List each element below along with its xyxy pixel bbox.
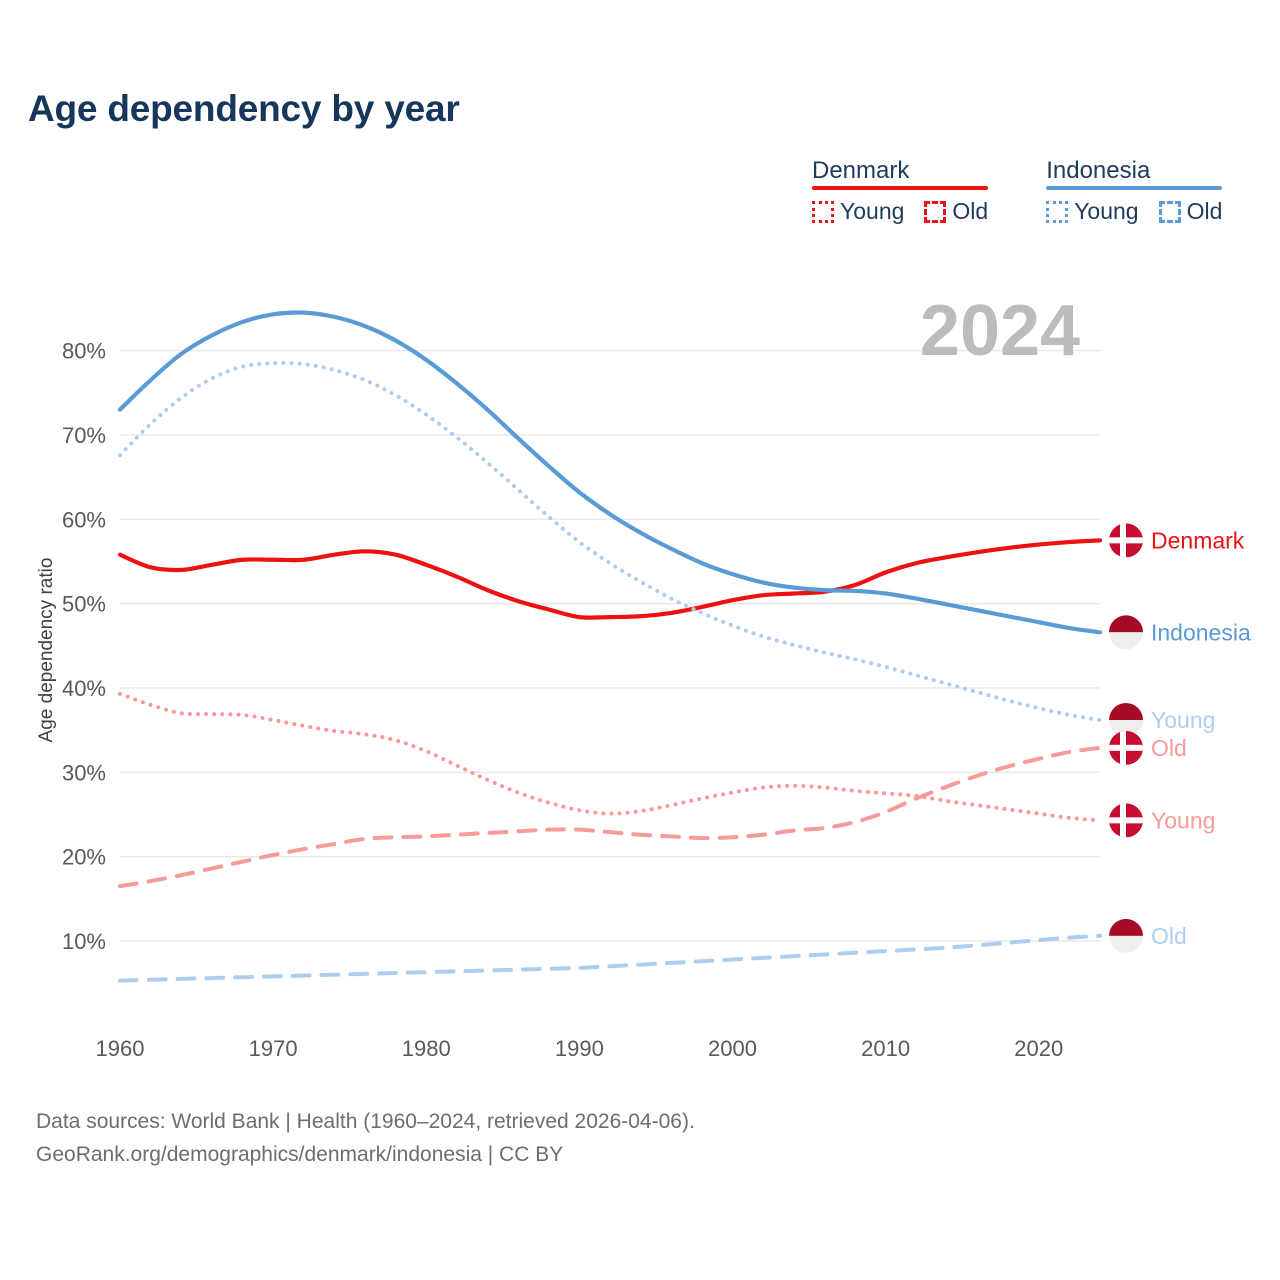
line-chart: 10%20%30%40%50%60%70%80%2024Age dependen… (0, 0, 1280, 1060)
flag-icon-indonesia (1109, 919, 1143, 953)
y-axis-tick-label: 40% (62, 676, 106, 701)
series-endpoint-denmark_young: Young (1109, 803, 1215, 837)
x-axis-tick-label: 2000 (708, 1036, 757, 1060)
indonesia-flag-top (1109, 615, 1143, 632)
x-axis-tick-label: 1980 (402, 1036, 451, 1060)
indonesia-flag-bottom (1109, 936, 1143, 953)
x-axis-tick-label: 2020 (1014, 1036, 1063, 1060)
y-axis-tick-label: 60% (62, 507, 106, 532)
series-endpoint-indonesia_total: Indonesia (1109, 615, 1251, 649)
series-endpoint-denmark_old: Old (1109, 731, 1187, 765)
flag-icon-indonesia (1109, 615, 1143, 649)
y-axis-tick-label: 10% (62, 929, 106, 954)
x-axis-tick-label: 1960 (96, 1036, 145, 1060)
watermark-year: 2024 (920, 291, 1080, 371)
flag-icon-denmark (1109, 803, 1143, 837)
footer-line-2: GeoRank.org/demographics/denmark/indones… (36, 1138, 695, 1171)
flag-icon-denmark (1109, 523, 1143, 557)
flag-icon-denmark (1109, 731, 1143, 765)
x-axis-tick-label: 1970 (249, 1036, 298, 1060)
series-endpoint-indonesia_old: Old (1109, 919, 1187, 953)
y-axis-tick-label: 20% (62, 845, 106, 870)
x-axis-tick-label: 1990 (555, 1036, 604, 1060)
series-endpoint-label-indonesia_old: Old (1151, 923, 1187, 949)
series-endpoint-label-indonesia_total: Indonesia (1151, 619, 1251, 645)
series-endpoint-label-indonesia_young: Young (1151, 707, 1215, 733)
indonesia-flag-bottom (1109, 632, 1143, 649)
y-axis-title: Age dependency ratio (36, 558, 57, 743)
y-axis-tick-label: 30% (62, 760, 106, 785)
indonesia-flag-top (1109, 919, 1143, 936)
footer-credits: Data sources: World Bank | Health (1960–… (36, 1105, 695, 1171)
denmark-flag-cross-h (1109, 537, 1143, 543)
denmark-flag-cross-h (1109, 745, 1143, 751)
indonesia-flag-top (1109, 703, 1143, 720)
series-endpoint-label-denmark_old: Old (1151, 735, 1187, 761)
y-axis-tick-label: 50% (62, 592, 106, 617)
series-line-denmark_old (120, 748, 1100, 886)
denmark-flag-cross-h (1109, 817, 1143, 823)
y-axis-tick-label: 70% (62, 423, 106, 448)
series-line-denmark_young (120, 694, 1100, 821)
series-line-indonesia_old (120, 936, 1100, 981)
series-endpoint-label-denmark_young: Young (1151, 807, 1215, 833)
chart-plot-area: 10%20%30%40%50%60%70%80%2024Age dependen… (0, 0, 1280, 1065)
footer-line-1: Data sources: World Bank | Health (1960–… (36, 1105, 695, 1138)
x-axis-tick-label: 2010 (861, 1036, 910, 1060)
y-axis-tick-label: 80% (62, 339, 106, 364)
series-line-indonesia_young (120, 363, 1100, 720)
series-endpoint-label-denmark_total: Denmark (1151, 527, 1245, 553)
series-endpoint-denmark_total: Denmark (1109, 523, 1245, 557)
